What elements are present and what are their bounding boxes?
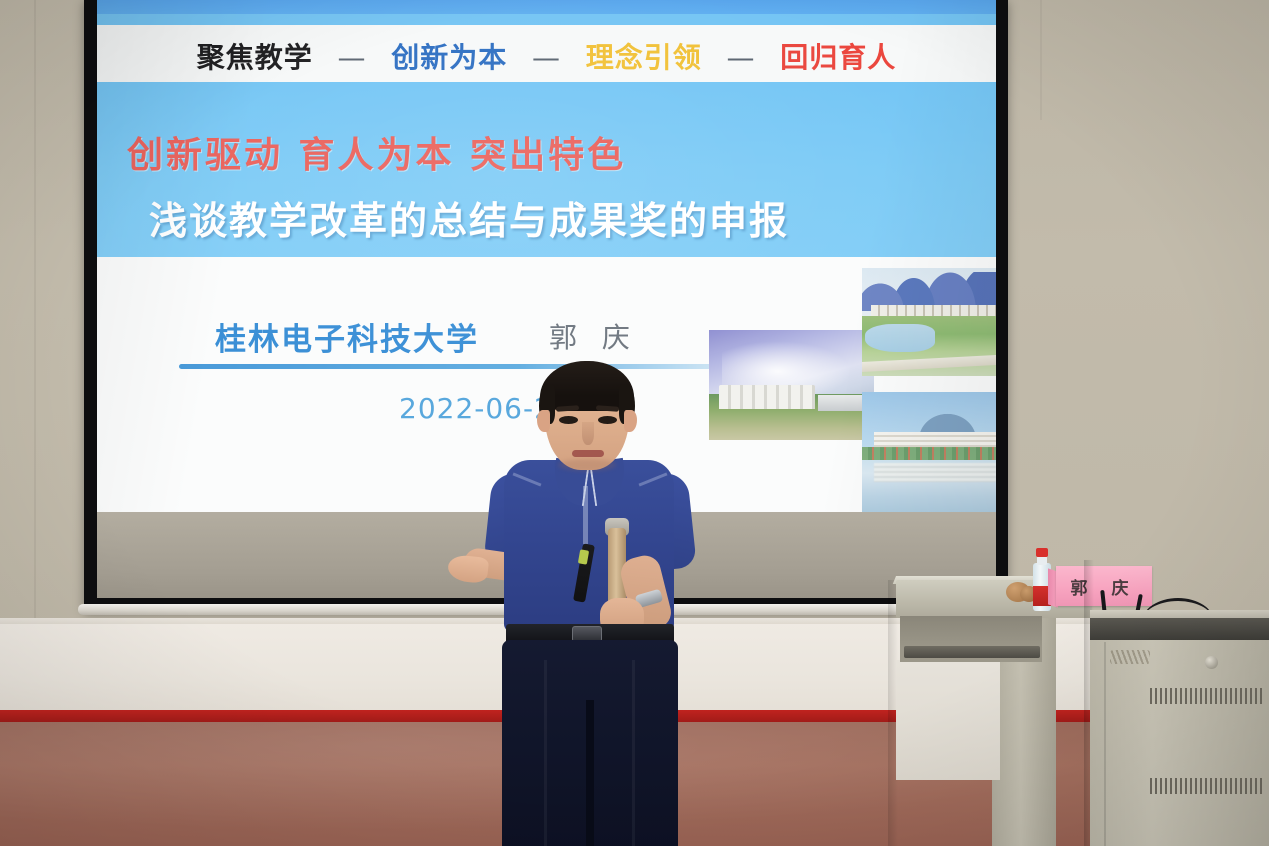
podium-side-panel: [896, 660, 1000, 780]
lock-icon[interactable]: [1205, 656, 1218, 669]
lectern-podium: 郭 庆: [896, 560, 1092, 846]
ear-right: [624, 410, 637, 432]
slide-author: 郭 庆: [549, 316, 638, 356]
photo-building: [874, 432, 996, 449]
motto-separator-3: —: [717, 41, 766, 74]
trouser-leg-split: [586, 700, 594, 846]
chin-shadow: [558, 459, 616, 471]
slide-photo-campus-lake: [862, 392, 996, 512]
slide-motto: 聚焦教学 — 创新为本 — 理念引领 — 回归育人: [97, 36, 996, 76]
mouth: [572, 450, 604, 457]
slide-photo-campus-aerial: [862, 268, 996, 376]
wall-seam-right: [1040, 0, 1042, 120]
hand-left-open-gesture: [447, 554, 489, 584]
motto-separator-1: —: [327, 41, 376, 74]
motto-item-3: 理念引领: [586, 41, 702, 74]
slide-organization: 桂林电子科技大学: [215, 314, 479, 359]
cabinet-door-seam: [1104, 642, 1106, 846]
ear-left: [537, 410, 550, 432]
equipment-cabinet: [1090, 590, 1269, 846]
trouser-crease-left: [544, 660, 547, 846]
bottle-neck: [1037, 556, 1047, 565]
cabinet-scuff-marks: [1110, 650, 1150, 664]
motto-separator-2: —: [522, 41, 571, 74]
podium-keyboard-tray-rail: [904, 646, 1040, 658]
speaker-person: [440, 360, 760, 846]
motto-item-2: 创新为本: [391, 41, 507, 74]
photo-reflection: [874, 463, 996, 482]
motto-item-4: 回归育人: [780, 41, 896, 74]
bottle-cap: [1036, 548, 1048, 557]
lecture-hall-scene: 聚焦教学 — 创新为本 — 理念引领 — 回归育人 创新驱动 育人为本 突出特色…: [0, 0, 1269, 846]
trouser-crease-right: [632, 660, 635, 846]
slide-title-primary: 创新驱动 育人为本 突出特色: [127, 126, 936, 178]
nose: [582, 422, 594, 445]
eye-left: [559, 416, 578, 424]
vent-grille-lower: [1150, 778, 1262, 794]
slide-title-subtitle: 浅谈教学改革的总结与成果奖的申报: [149, 190, 976, 245]
shirt-placket: [583, 486, 588, 544]
cabinet-door[interactable]: [1090, 640, 1269, 846]
wall-seam-left: [34, 0, 36, 632]
motto-item-1: 聚焦教学: [197, 41, 313, 74]
photo-building-secondary: [818, 395, 864, 412]
photo-lake: [865, 324, 935, 352]
vent-grille-upper: [1150, 688, 1262, 704]
cabinet-top-rail: [1090, 618, 1269, 640]
eye-right: [598, 416, 617, 424]
